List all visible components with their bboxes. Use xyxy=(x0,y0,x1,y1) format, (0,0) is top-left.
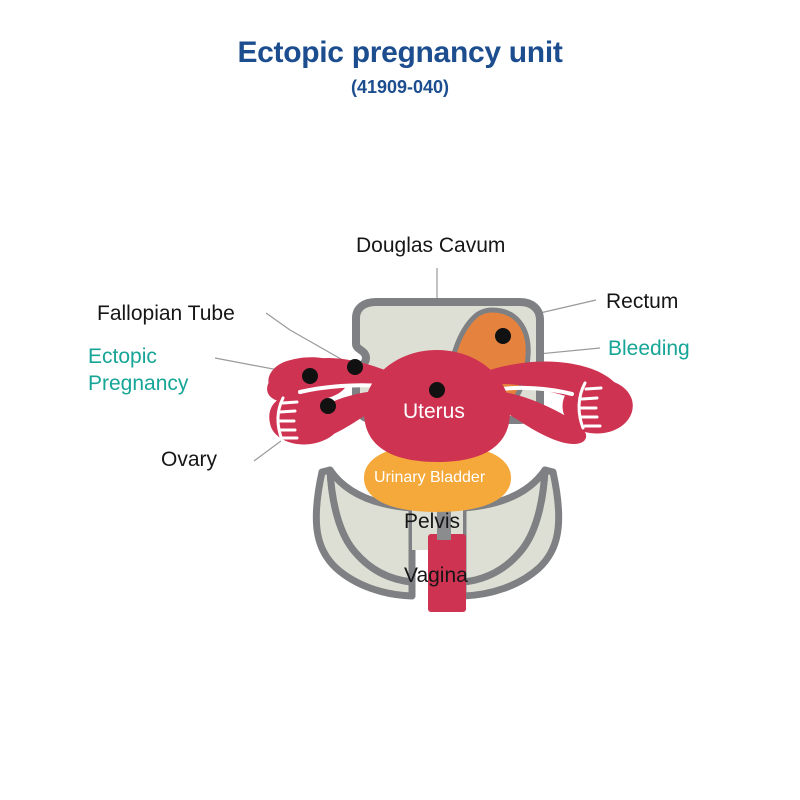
leader-fallopian-tube-2 xyxy=(266,313,290,330)
marker-ovary xyxy=(320,398,336,414)
label-rectum: Rectum xyxy=(606,290,678,314)
marker-rectum xyxy=(495,328,511,344)
label-vagina: Vagina xyxy=(404,564,468,588)
marker-fallopian-tube xyxy=(347,359,363,375)
label-fallopian-tube: Fallopian Tube xyxy=(97,302,235,326)
label-douglas-cavum: Douglas Cavum xyxy=(356,234,505,258)
label-ectopic-pregnancy-line2: Pregnancy xyxy=(88,372,188,396)
anatomy-illustration xyxy=(0,0,800,800)
diagram-page: Ectopic pregnancy unit (41909-040) xyxy=(0,0,800,800)
label-ovary: Ovary xyxy=(161,448,217,472)
marker-douglas-cavum xyxy=(429,382,445,398)
leader-rectum-2 xyxy=(540,300,596,313)
label-bleeding: Bleeding xyxy=(608,337,690,361)
label-ectopic-pregnancy-line1: Ectopic xyxy=(88,345,157,369)
label-urinary-bladder: Urinary Bladder xyxy=(374,469,485,487)
label-pelvis: Pelvis xyxy=(404,510,460,534)
marker-ectopic-pregnancy xyxy=(302,368,318,384)
label-uterus: Uterus xyxy=(403,400,465,424)
